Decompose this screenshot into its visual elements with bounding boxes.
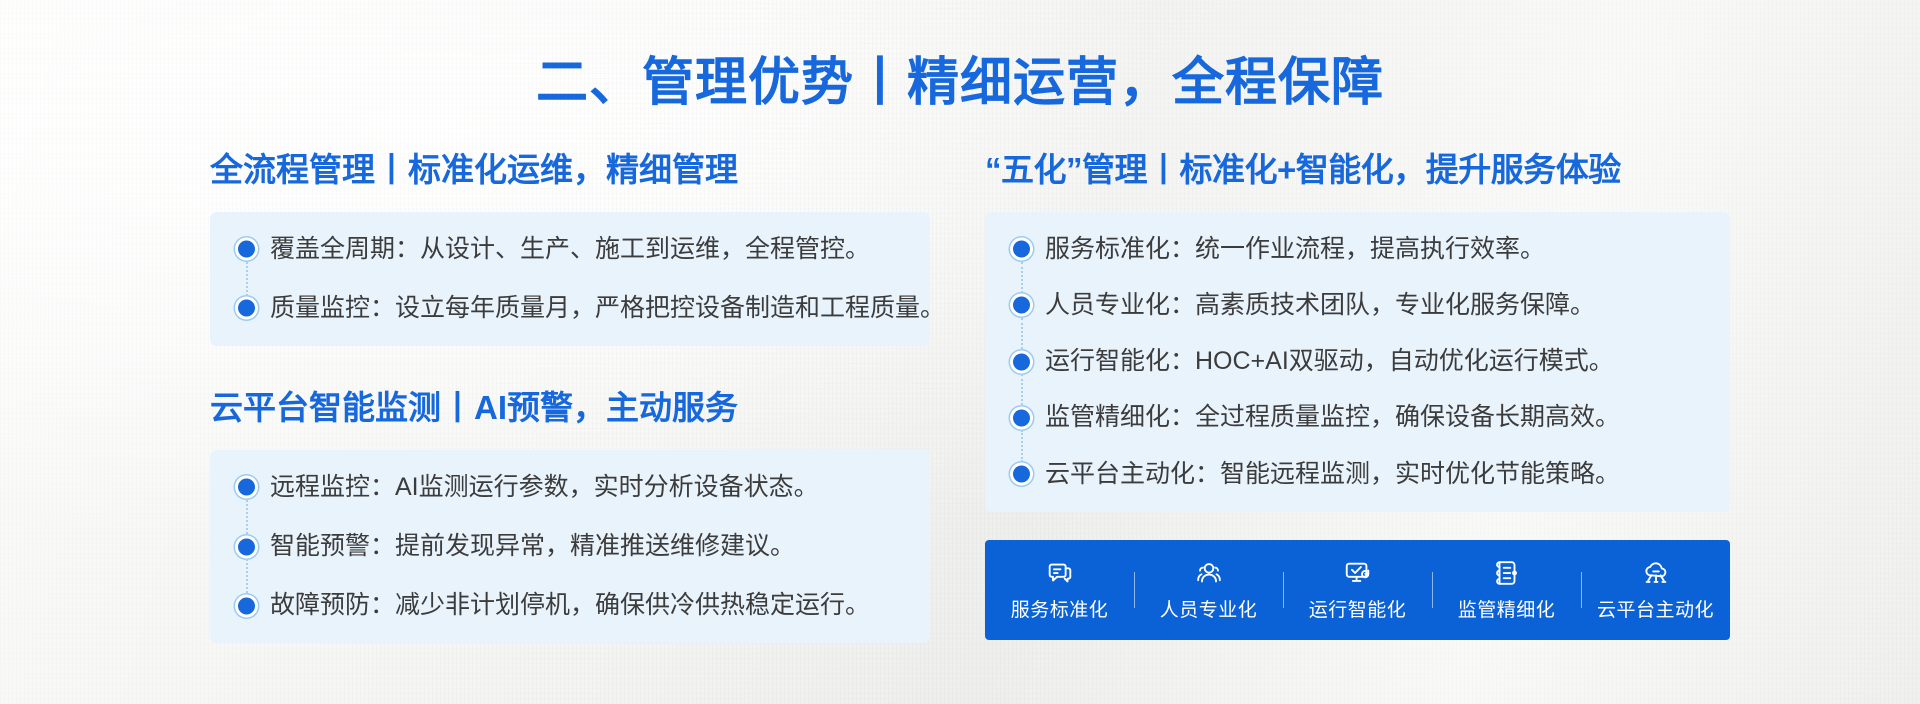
list-item-label: 质量监控：设立每年质量月，严格把控设备制造和工程质量。 [270,293,945,324]
spacer [210,346,930,388]
card-five-modernizations: 服务标准化：统一作业流程，提高执行效率。 人员专业化：高素质技术团队，专业化服务… [985,212,1730,512]
page-title: 二、管理优势丨精细运营，全程保障 [0,40,1920,115]
bullet-list-full-process: 覆盖全周期：从设计、生产、施工到运维，全程管控。 质量监控：设立每年质量月，严格… [236,234,904,325]
bullet-connector-line [246,262,248,296]
monitor-check-icon [1343,558,1373,588]
list-item-label: 监管精细化：全过程质量监控，确保设备长期高效。 [1045,402,1620,433]
banner-item-service-standardization[interactable]: 服务标准化 [985,558,1134,622]
bullet-connector-line [1021,262,1023,293]
banner-item-staff-professionalization[interactable]: 人员专业化 [1134,558,1283,622]
list-item-label: 云平台主动化：智能远程监测，实时优化节能策略。 [1045,459,1620,490]
list-item-label: 故障预防：减少非计划停机，确保供冷供热稳定运行。 [270,590,870,621]
list-item: 监管精细化：全过程质量监控，确保设备长期高效。 [1011,402,1704,433]
bullet-dot-icon [1013,353,1030,370]
bullet-dot-icon [238,479,255,496]
bullet-dot-icon [1013,241,1030,258]
card-cloud-platform: 远程监控：AI监测运行参数，实时分析设备状态。 智能预警：提前发现异常，精准推送… [210,450,930,644]
banner-item-label: 云平台主动化 [1597,595,1714,622]
bullet-list-cloud-platform: 远程监控：AI监测运行参数，实时分析设备状态。 智能预警：提前发现异常，精准推送… [236,472,904,622]
list-item: 人员专业化：高素质技术团队，专业化服务保障。 [1011,290,1704,321]
banner-item-label: 服务标准化 [1011,595,1109,622]
list-item-label: 运行智能化：HOC+AI双驱动，自动优化运行模式。 [1045,346,1614,377]
bullet-connector-line [246,559,248,593]
list-item: 远程监控：AI监测运行参数，实时分析设备状态。 [236,472,904,503]
bullet-connector-line [1021,318,1023,349]
banner-item-cloud-platform-proactive[interactable]: 云平台主动化 [1581,558,1730,622]
list-item-label: 远程监控：AI监测运行参数，实时分析设备状态。 [270,472,819,503]
banner-item-label: 监管精细化 [1458,595,1556,622]
bullet-list-five-modernizations: 服务标准化：统一作业流程，提高执行效率。 人员专业化：高素质技术团队，专业化服务… [1011,234,1704,490]
bullet-connector-line [246,500,248,534]
right-column: “五化”管理丨标准化+智能化，提升服务体验 服务标准化：统一作业流程，提高执行效… [985,150,1730,512]
list-item-label: 覆盖全周期：从设计、生产、施工到运维，全程管控。 [270,234,870,265]
list-item: 覆盖全周期：从设计、生产、施工到运维，全程管控。 [236,234,904,265]
bullet-connector-line [1021,430,1023,461]
banner-item-intelligent-operation[interactable]: 运行智能化 [1283,558,1432,622]
section-heading-cloud-platform: 云平台智能监测丨AI预警，主动服务 [210,388,930,428]
list-item: 质量监控：设立每年质量月，严格把控设备制造和工程质量。 [236,293,904,324]
list-item-label: 服务标准化：统一作业流程，提高执行效率。 [1045,234,1545,265]
list-item-label: 人员专业化：高素质技术团队，专业化服务保障。 [1045,290,1595,321]
bullet-dot-icon [1013,466,1030,483]
banner-item-label: 人员专业化 [1160,595,1258,622]
people-group-icon [1194,558,1224,588]
list-item: 运行智能化：HOC+AI双驱动，自动优化运行模式。 [1011,346,1704,377]
list-item: 云平台主动化：智能远程监测，实时优化节能策略。 [1011,459,1704,490]
list-item: 服务标准化：统一作业流程，提高执行效率。 [1011,234,1704,265]
bullet-dot-icon [238,597,255,614]
bullet-connector-line [1021,374,1023,405]
slide-page: 二、管理优势丨精细运营，全程保障 全流程管理丨标准化运维，精细管理 覆盖全周期：… [0,0,1920,704]
section-heading-five-modernizations: “五化”管理丨标准化+智能化，提升服务体验 [985,150,1730,190]
section-heading-full-process: 全流程管理丨标准化运维，精细管理 [210,150,930,190]
left-column: 全流程管理丨标准化运维，精细管理 覆盖全周期：从设计、生产、施工到运维，全程管控… [210,150,930,643]
chat-bubbles-icon [1045,558,1075,588]
bullet-dot-icon [238,241,255,258]
cloud-network-icon [1641,558,1671,588]
list-item-label: 智能预警：提前发现异常，精准推送维修建议。 [270,531,795,562]
card-full-process: 覆盖全周期：从设计、生产、施工到运维，全程管控。 质量监控：设立每年质量月，严格… [210,212,930,347]
bullet-dot-icon [238,538,255,555]
document-lines-icon [1492,558,1522,588]
list-item: 智能预警：提前发现异常，精准推送维修建议。 [236,531,904,562]
bullet-dot-icon [1013,409,1030,426]
bullet-dot-icon [238,300,255,317]
bullet-dot-icon [1013,297,1030,314]
feature-banner: 服务标准化 人员专业化 [985,540,1730,640]
list-item: 故障预防：减少非计划停机，确保供冷供热稳定运行。 [236,590,904,621]
banner-item-label: 运行智能化 [1309,595,1407,622]
banner-item-refined-supervision[interactable]: 监管精细化 [1432,558,1581,622]
